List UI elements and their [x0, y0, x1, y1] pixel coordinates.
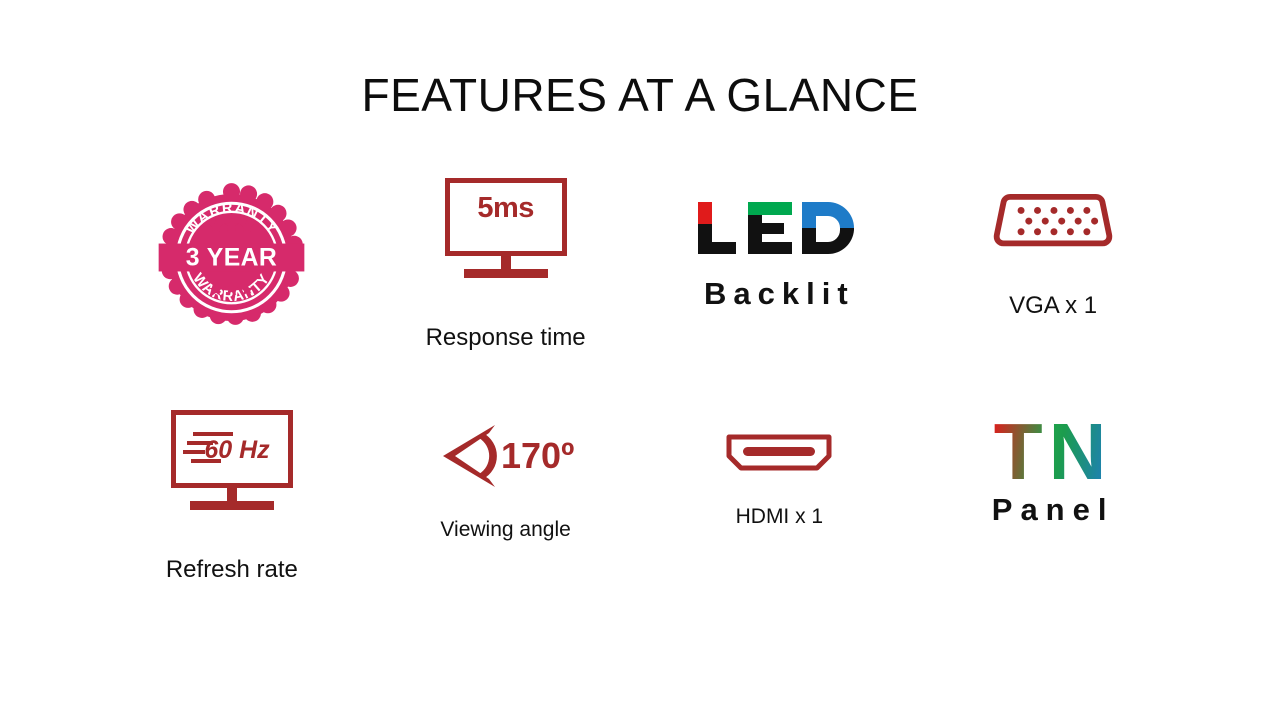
feature-hdmi: HDMI x 1 [643, 400, 917, 630]
feature-viewing-angle: 170º Viewing angle [369, 400, 643, 630]
monitor-neck [501, 256, 511, 269]
feature-led-backlit: Backlit [643, 170, 917, 400]
tn-word: TN [994, 414, 1113, 490]
page-title: FEATURES AT A GLANCE [0, 68, 1280, 122]
feature-label-vga: VGA x 1 [1009, 292, 1097, 320]
warranty-center-text: 3 YEAR [186, 244, 277, 271]
vga-port-icon [988, 194, 1118, 254]
panel-word: Panel [992, 492, 1115, 528]
tn-panel-logo: TN Panel [992, 414, 1115, 528]
warranty-seal-icon: WARRANTY WARRANTY [154, 180, 309, 335]
hdmi-port-icon [725, 432, 833, 474]
feature-vga: VGA x 1 [916, 170, 1190, 400]
monitor-neck [227, 488, 237, 501]
features-grid: WARRANTY WARRANTY [95, 170, 1190, 630]
response-time-value: 5ms [445, 192, 567, 225]
monitor-icon: 5ms [445, 178, 567, 282]
feature-warranty: WARRANTY WARRANTY [95, 170, 369, 400]
feature-tn-panel: TN Panel [916, 400, 1190, 630]
angle-icon: 170º [437, 422, 574, 490]
feature-response-time: 5ms Response time [369, 170, 643, 400]
feature-label-hdmi: HDMI x 1 [736, 505, 824, 529]
monitor-speed-icon: 60 Hz [171, 410, 293, 514]
led-word [694, 198, 864, 272]
refresh-speed-art: 60 Hz [171, 410, 293, 488]
monitor-base [464, 269, 548, 278]
feature-label-response-time: Response time [426, 324, 586, 352]
feature-label-refresh-rate: Refresh rate [166, 556, 298, 584]
backlit-word: Backlit [694, 276, 864, 312]
refresh-rate-value: 60 Hz [204, 436, 270, 464]
viewing-angle-value: 170º [501, 435, 574, 477]
feature-label-viewing-angle: Viewing angle [440, 518, 570, 542]
monitor-base [190, 501, 274, 510]
led-backlit-logo: Backlit [694, 198, 864, 312]
feature-refresh-rate: 60 Hz Refresh rate [95, 400, 369, 630]
